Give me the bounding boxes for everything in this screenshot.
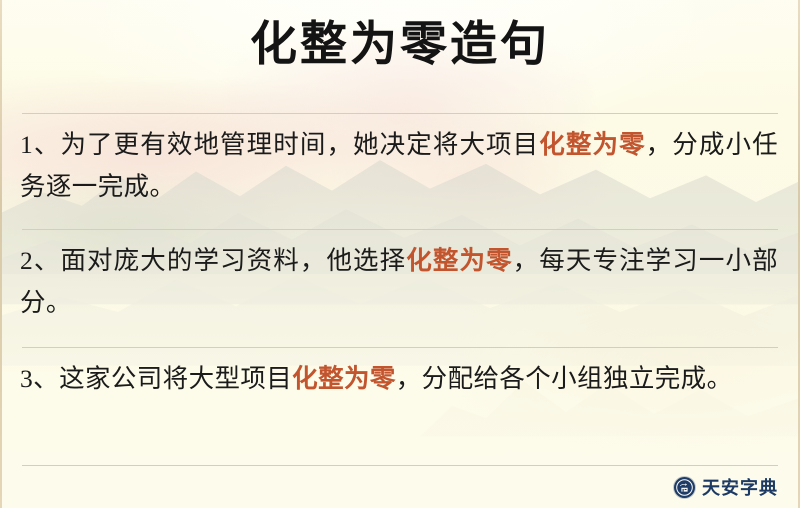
sentence-part: 面对庞大的学习资料，他选择 (60, 246, 406, 275)
divider-after-sentence-1 (22, 229, 778, 230)
divider-after-sentence-3 (22, 465, 778, 466)
idiom-example-card: 化整为零造句 1、为了更有效地管理时间，她决定将大项目化整为零，分成小任务逐一完… (0, 0, 800, 508)
divider-after-sentence-2 (22, 347, 778, 348)
list-item: 2、面对庞大的学习资料，他选择化整为零，每天专注学习一小部分。 (20, 240, 778, 324)
list-item: 1、为了更有效地管理时间，她决定将大项目化整为零，分成小任务逐一完成。 (20, 124, 778, 208)
sentence-part: 这家公司将大型项目 (59, 364, 292, 393)
list-item: 3、这家公司将大型项目化整为零，分配给各个小组独立完成。 (20, 358, 778, 400)
brand-name: 天安字典 (702, 474, 778, 500)
idiom-highlight: 化整为零 (406, 246, 512, 275)
sentence-part: 为了更有效地管理时间，她决定将大项目 (60, 130, 539, 159)
sentence-part: ，分配给各个小组独立完成。 (396, 364, 733, 393)
idiom-highlight: 化整为零 (292, 364, 396, 393)
sentence-index: 3、 (20, 364, 59, 393)
idiom-highlight: 化整为零 (539, 130, 645, 159)
page-title: 化整为零造句 (0, 18, 800, 73)
divider-top (22, 113, 778, 114)
sentence-index: 1、 (20, 130, 60, 159)
brand-logo[interactable]: 天安字典 (674, 474, 778, 500)
circular-seal-icon (674, 477, 695, 498)
sentence-index: 2、 (20, 246, 60, 275)
